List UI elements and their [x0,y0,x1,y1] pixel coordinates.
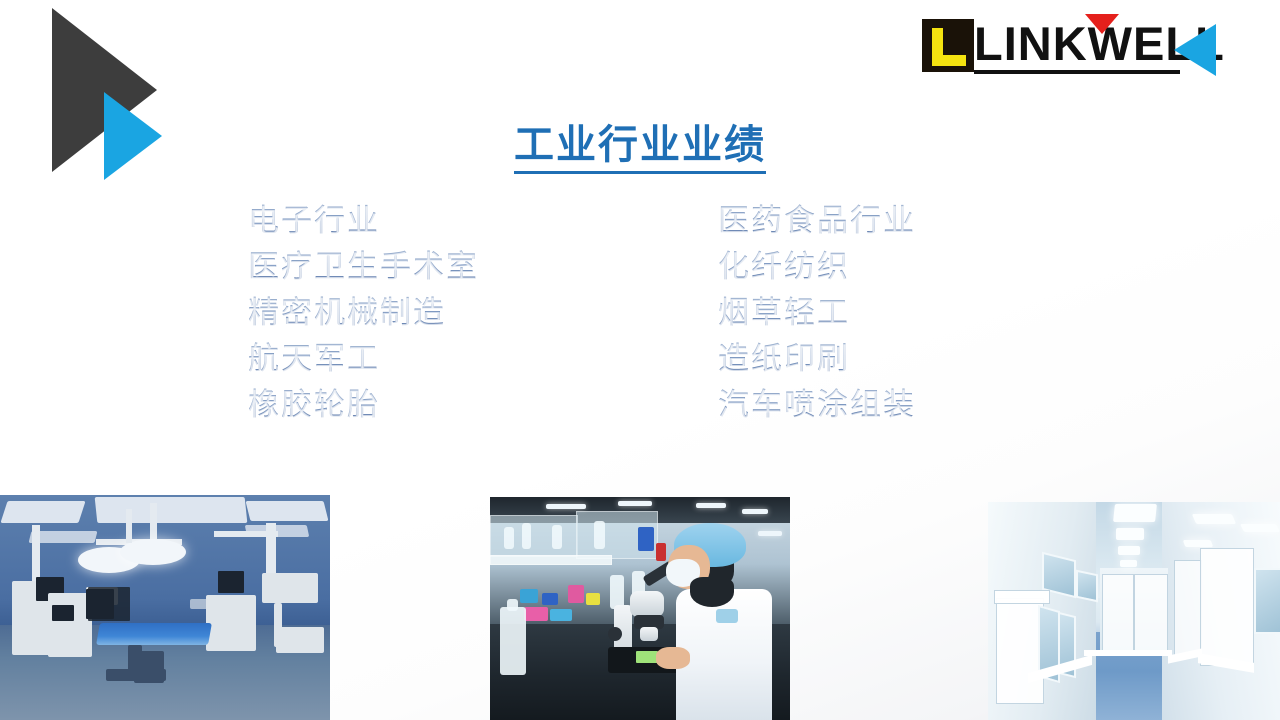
industry-column-right: 医药食品行业 化纤纺织 烟草轻工 造纸印刷 汽车喷涂组装 [718,198,1008,428]
list-item: 精密机械制造 [248,290,718,336]
cyan-arrow-icon [1174,24,1216,76]
photo-strip [0,495,1280,720]
list-item: 化纤纺织 [718,244,1008,290]
list-item: 汽车喷涂组装 [718,382,1008,428]
list-item: 航天军工 [248,336,718,382]
industry-column-left: 电子行业 医疗卫生手术室 精密机械制造 航天军工 橡胶轮胎 [248,198,718,428]
list-item: 造纸印刷 [718,336,1008,382]
logo-mark-square-icon [922,19,974,72]
industry-list: 电子行业 医疗卫生手术室 精密机械制造 航天军工 橡胶轮胎 医药食品行业 化纤纺… [248,198,1008,428]
list-item: 医药食品行业 [718,198,1008,244]
linkwell-logo: LINKWELL [922,12,1232,84]
page-title: 工业行业业绩 [0,112,1280,170]
red-triangle-icon [1085,14,1119,34]
slide-canvas: LINKWELL 工业行业业绩 电子行业 医疗卫生手术室 精密机械制造 航天军工… [0,0,1280,720]
list-item: 烟草轻工 [718,290,1008,336]
logo-underline [974,70,1180,74]
logo-mark-l-foot-icon [932,55,966,66]
photo-laboratory [490,497,790,720]
photo-operating-room [0,495,330,720]
page-title-text: 工业行业业绩 [514,122,766,174]
list-item: 电子行业 [248,198,718,244]
list-item: 医疗卫生手术室 [248,244,718,290]
photo-cleanroom-corridor [988,502,1280,720]
list-item: 橡胶轮胎 [248,382,718,428]
